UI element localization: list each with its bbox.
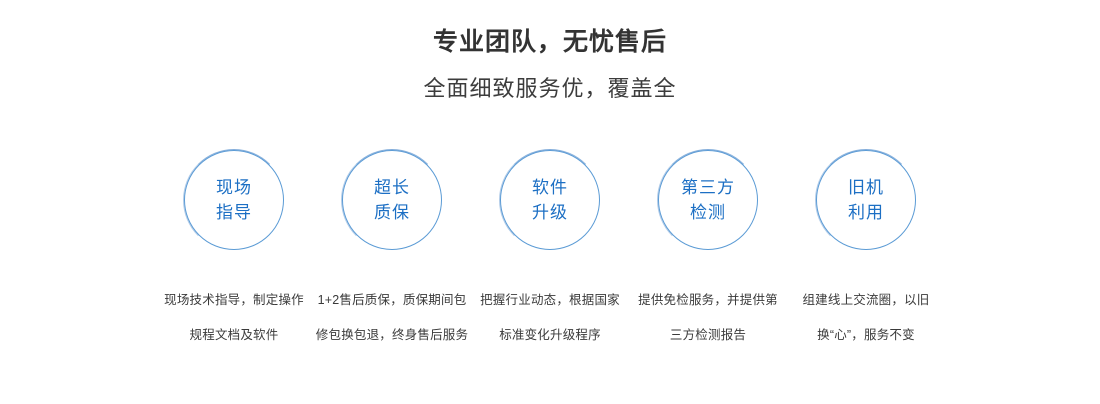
service-card-list: 现场 指导 现场技术指导，制定操作 规程文档及软件 超长 质保 1+2售后质保，… bbox=[155, 150, 945, 353]
description-line2: 修包换包退，终身售后服务 bbox=[313, 318, 471, 353]
description-line1: 组建线上交流圈，以旧 bbox=[787, 283, 945, 318]
service-card: 软件 升级 把握行业动态，根据国家 标准变化升级程序 bbox=[471, 150, 629, 353]
description-line1: 提供免检服务，并提供第 bbox=[629, 283, 787, 318]
description-line2: 换“心”，服务不变 bbox=[787, 318, 945, 353]
page-subtitle: 全面细致服务优，覆盖全 bbox=[0, 73, 1100, 105]
circle-label-line1: 现场 bbox=[216, 175, 252, 200]
description-line1: 现场技术指导，制定操作 bbox=[155, 283, 313, 318]
description-line2: 标准变化升级程序 bbox=[471, 318, 629, 353]
description-line2: 规程文档及软件 bbox=[155, 318, 313, 353]
circle-label-line1: 软件 bbox=[532, 175, 568, 200]
circle-label-line1: 第三方 bbox=[681, 175, 735, 200]
page-title: 专业团队，无忧售后 bbox=[0, 25, 1100, 59]
service-card: 第三方 检测 提供免检服务，并提供第 三方检测报告 bbox=[629, 150, 787, 353]
circle-badge-extended-warranty: 超长 质保 bbox=[342, 150, 442, 250]
description-line2: 三方检测报告 bbox=[629, 318, 787, 353]
circle-label-line1: 超长 bbox=[374, 175, 410, 200]
circle-label-line2: 利用 bbox=[848, 200, 884, 225]
service-promise-section: 专业团队，无忧售后 全面细致服务优，覆盖全 现场 指导 现场技术指导，制定操作 … bbox=[0, 0, 1100, 404]
description-line1: 1+2售后质保，质保期间包 bbox=[313, 283, 471, 318]
circle-label-line2: 指导 bbox=[216, 200, 252, 225]
circle-label-line1: 旧机 bbox=[848, 175, 884, 200]
service-description: 组建线上交流圈，以旧 换“心”，服务不变 bbox=[787, 283, 945, 353]
service-card: 旧机 利用 组建线上交流圈，以旧 换“心”，服务不变 bbox=[787, 150, 945, 353]
service-description: 现场技术指导，制定操作 规程文档及软件 bbox=[155, 283, 313, 353]
description-line1: 把握行业动态，根据国家 bbox=[471, 283, 629, 318]
service-description: 把握行业动态，根据国家 标准变化升级程序 bbox=[471, 283, 629, 353]
service-description: 提供免检服务，并提供第 三方检测报告 bbox=[629, 283, 787, 353]
service-description: 1+2售后质保，质保期间包 修包换包退，终身售后服务 bbox=[313, 283, 471, 353]
circle-label-line2: 升级 bbox=[532, 200, 568, 225]
section-heading: 专业团队，无忧售后 全面细致服务优，覆盖全 bbox=[0, 0, 1100, 105]
circle-label-line2: 检测 bbox=[690, 200, 726, 225]
circle-badge-software-upgrade: 软件 升级 bbox=[500, 150, 600, 250]
circle-badge-onsite-guidance: 现场 指导 bbox=[184, 150, 284, 250]
service-card: 超长 质保 1+2售后质保，质保期间包 修包换包退，终身售后服务 bbox=[313, 150, 471, 353]
service-card: 现场 指导 现场技术指导，制定操作 规程文档及软件 bbox=[155, 150, 313, 353]
circle-label-line2: 质保 bbox=[374, 200, 410, 225]
circle-badge-old-machine-reuse: 旧机 利用 bbox=[816, 150, 916, 250]
circle-badge-third-party-inspection: 第三方 检测 bbox=[658, 150, 758, 250]
